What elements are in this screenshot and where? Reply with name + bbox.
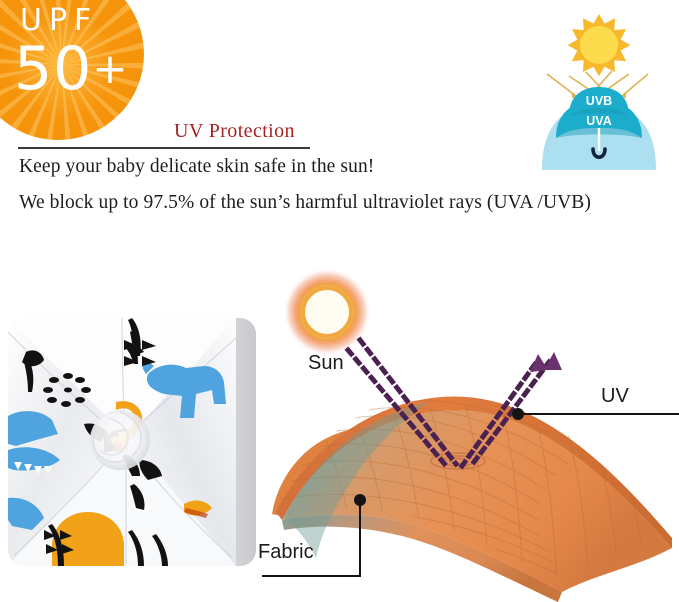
swatch-image bbox=[8, 318, 236, 566]
uv-umbrella-diagram: UVB UVA bbox=[524, 4, 674, 170]
sun-icon bbox=[568, 14, 631, 76]
fabric-print-svg bbox=[8, 318, 236, 566]
badge-sunburst-rays bbox=[0, 0, 144, 140]
upf-badge bbox=[0, 0, 144, 140]
body-line-1: Keep your baby delicate skin safe in the… bbox=[19, 156, 374, 178]
print-dot-burst bbox=[43, 373, 91, 407]
uv-protection-title: UV Protection bbox=[174, 120, 295, 143]
upf-protection-infographic: UPF 50+ bbox=[0, 0, 679, 602]
swatch-edge-shadow bbox=[234, 318, 256, 566]
sun-label: Sun bbox=[308, 352, 344, 375]
fabric-swatch-photo bbox=[8, 318, 256, 566]
body-line-2: We block up to 97.5% of the sun’s harmfu… bbox=[19, 192, 591, 214]
uv-diagram-svg bbox=[262, 262, 679, 602]
uv-umbrella-svg: UVB UVA bbox=[524, 4, 674, 170]
canopy-surface bbox=[276, 401, 672, 602]
uv-label: UV bbox=[601, 385, 629, 408]
uv-leader bbox=[512, 408, 679, 420]
uv-layer-uva-label: UVA bbox=[586, 114, 611, 128]
title-divider bbox=[18, 147, 310, 149]
uv-layer-uvb-label: UVB bbox=[586, 94, 612, 108]
sun-glow-icon bbox=[283, 268, 371, 356]
sun-fabric-uv-diagram bbox=[262, 262, 679, 602]
fabric-label: Fabric bbox=[258, 541, 314, 564]
